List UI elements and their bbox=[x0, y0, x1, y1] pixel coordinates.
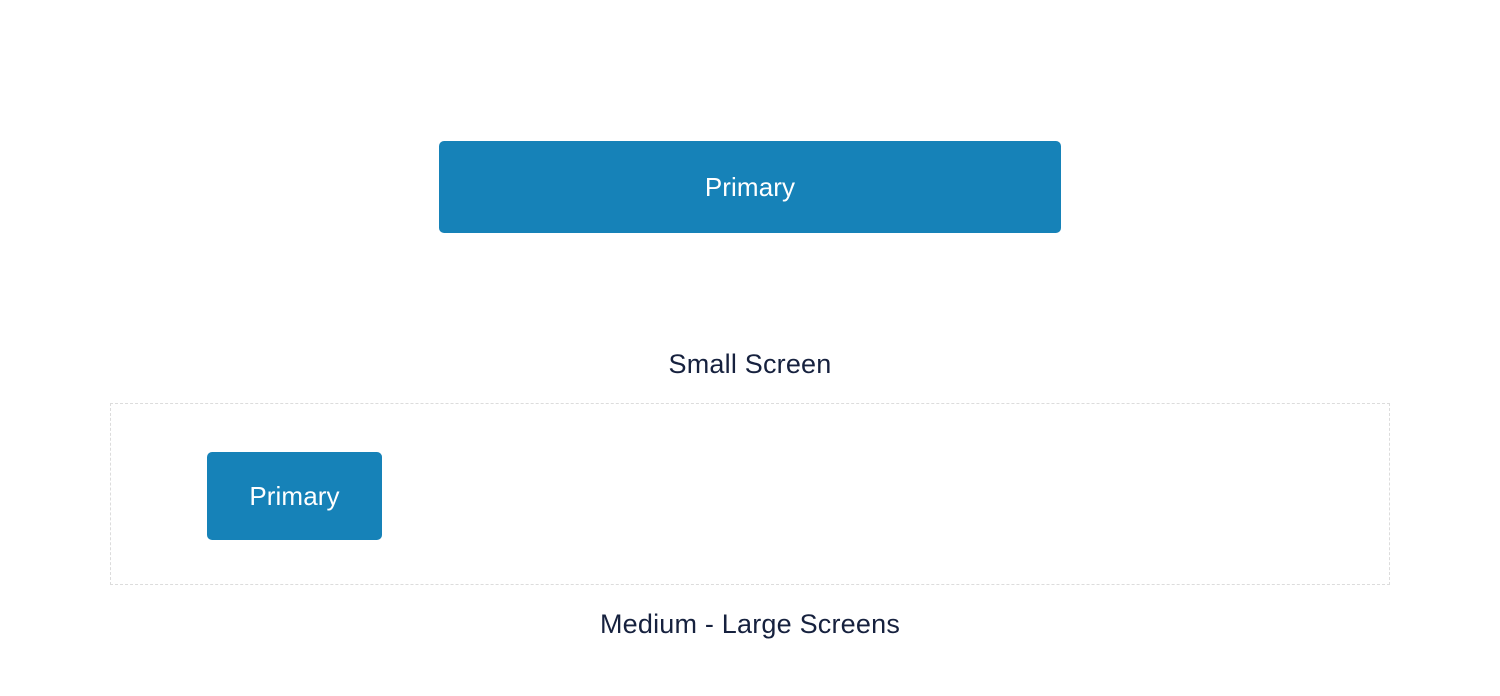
primary-button-auto[interactable]: Primary bbox=[207, 452, 382, 540]
caption-small-screen: Small Screen bbox=[0, 350, 1500, 378]
caption-large-screen: Medium - Large Screens bbox=[0, 610, 1500, 638]
demo-stage: Primary Small Screen Primary Medium - La… bbox=[0, 0, 1500, 696]
primary-button-fullwidth-label: Primary bbox=[705, 174, 795, 200]
primary-button-fullwidth[interactable]: Primary bbox=[439, 141, 1061, 233]
large-screen-viewport-outline: Primary bbox=[110, 403, 1390, 585]
primary-button-auto-label: Primary bbox=[249, 483, 339, 509]
